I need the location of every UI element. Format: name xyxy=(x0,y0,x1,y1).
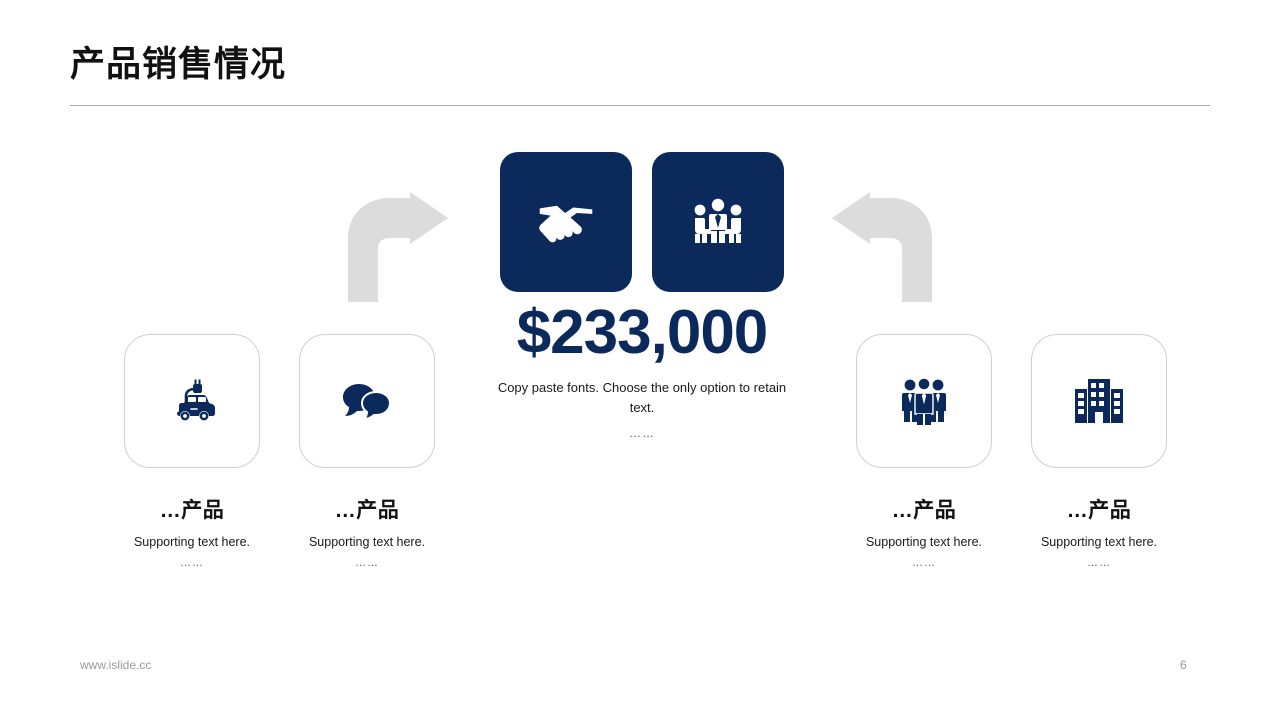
product-dots: …… xyxy=(829,557,1019,569)
product-card-1[interactable] xyxy=(299,334,435,468)
electric-car-icon xyxy=(166,378,218,424)
product-support-text: Supporting text here. xyxy=(1004,535,1194,549)
people-group-icon xyxy=(901,377,947,425)
product-title: …产品 xyxy=(272,498,462,523)
page-title: 产品销售情况 xyxy=(70,47,286,82)
handshake-icon xyxy=(537,196,595,248)
product-caption-2: …产品 Supporting text here. …… xyxy=(829,498,1019,569)
center-metric-value: $233,000 xyxy=(452,300,832,365)
product-support-text: Supporting text here. xyxy=(272,535,462,549)
product-card-3[interactable] xyxy=(1031,334,1167,468)
curved-arrow-left-icon xyxy=(832,192,932,302)
speech-bubbles-icon xyxy=(343,382,391,420)
footer-page-number: 6 xyxy=(1180,658,1187,672)
product-caption-1: …产品 Supporting text here. …… xyxy=(272,498,462,569)
product-support-text: Supporting text here. xyxy=(97,535,287,549)
center-tile-team[interactable] xyxy=(652,152,784,292)
product-caption-0: …产品 Supporting text here. …… xyxy=(97,498,287,569)
footer-url[interactable]: www.islide.cc xyxy=(80,658,151,672)
product-title: …产品 xyxy=(97,498,287,523)
product-card-2[interactable] xyxy=(856,334,992,468)
center-metric-dots: …… xyxy=(452,426,832,440)
product-card-0[interactable] xyxy=(124,334,260,468)
curved-arrow-right-icon xyxy=(348,192,448,302)
product-dots: …… xyxy=(97,557,287,569)
product-caption-3: …产品 Supporting text here. …… xyxy=(1004,498,1194,569)
center-tile-group xyxy=(500,152,784,292)
team-meeting-icon xyxy=(693,198,743,246)
product-title: …产品 xyxy=(1004,498,1194,523)
center-metric-block: $233,000 Copy paste fonts. Choose the on… xyxy=(452,300,832,440)
product-dots: …… xyxy=(1004,557,1194,569)
office-buildings-icon xyxy=(1075,379,1123,423)
product-title: …产品 xyxy=(829,498,1019,523)
center-metric-description: Copy paste fonts. Choose the only option… xyxy=(452,378,832,418)
product-support-text: Supporting text here. xyxy=(829,535,1019,549)
product-dots: …… xyxy=(272,557,462,569)
title-divider xyxy=(70,105,1210,106)
center-tile-handshake[interactable] xyxy=(500,152,632,292)
